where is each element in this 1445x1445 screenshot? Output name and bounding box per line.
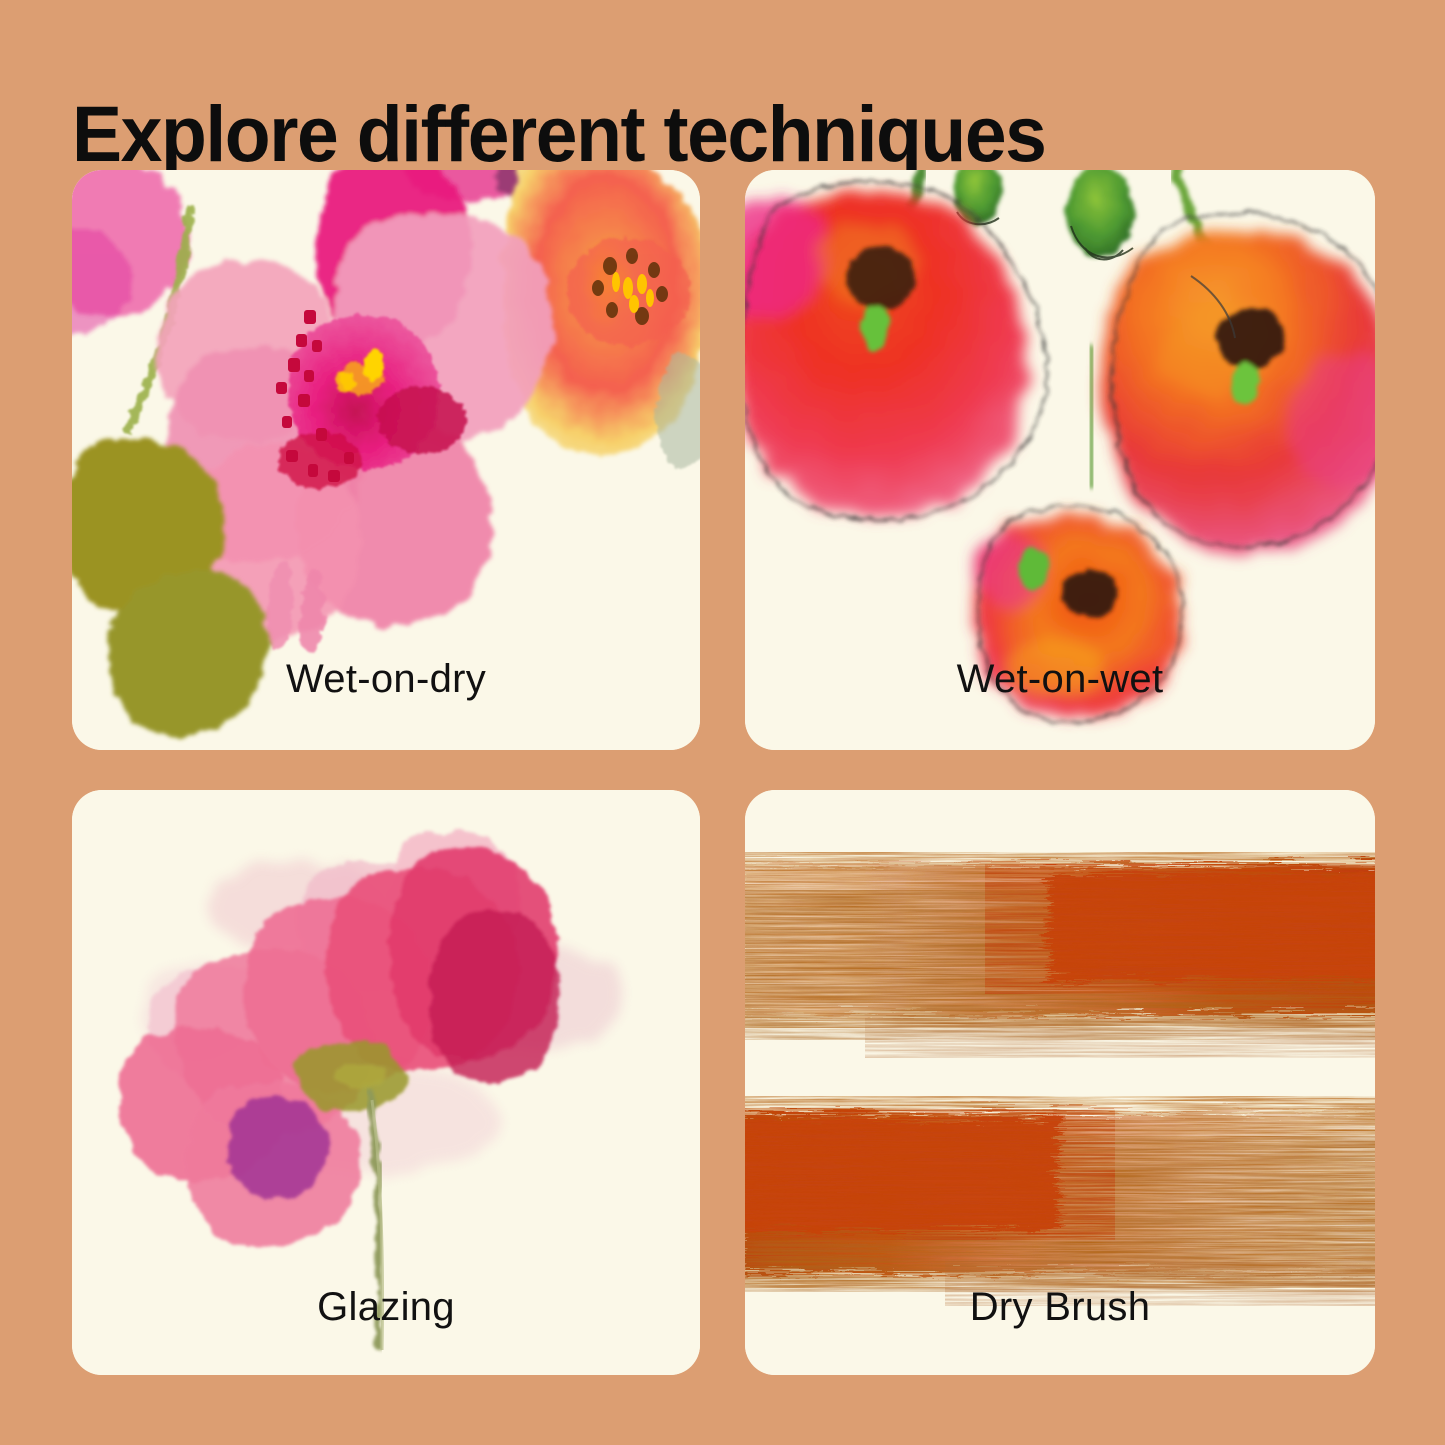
technique-card-grid: Wet-on-dry bbox=[72, 170, 1375, 1375]
page-root: Explore different techniques bbox=[0, 0, 1445, 1445]
card-label-glazing: Glazing bbox=[72, 1285, 700, 1330]
technique-card-wet-on-dry[interactable]: Wet-on-dry bbox=[72, 170, 700, 750]
technique-card-glazing[interactable]: Glazing bbox=[72, 790, 700, 1375]
page-title: Explore different techniques bbox=[72, 91, 1045, 178]
card-label-wet-on-dry: Wet-on-dry bbox=[72, 657, 700, 702]
card-label-wet-on-wet: Wet-on-wet bbox=[745, 657, 1375, 702]
technique-card-dry-brush[interactable]: Dry Brush bbox=[745, 790, 1375, 1375]
card-label-dry-brush: Dry Brush bbox=[745, 1285, 1375, 1330]
technique-card-wet-on-wet[interactable]: Wet-on-wet bbox=[745, 170, 1375, 750]
